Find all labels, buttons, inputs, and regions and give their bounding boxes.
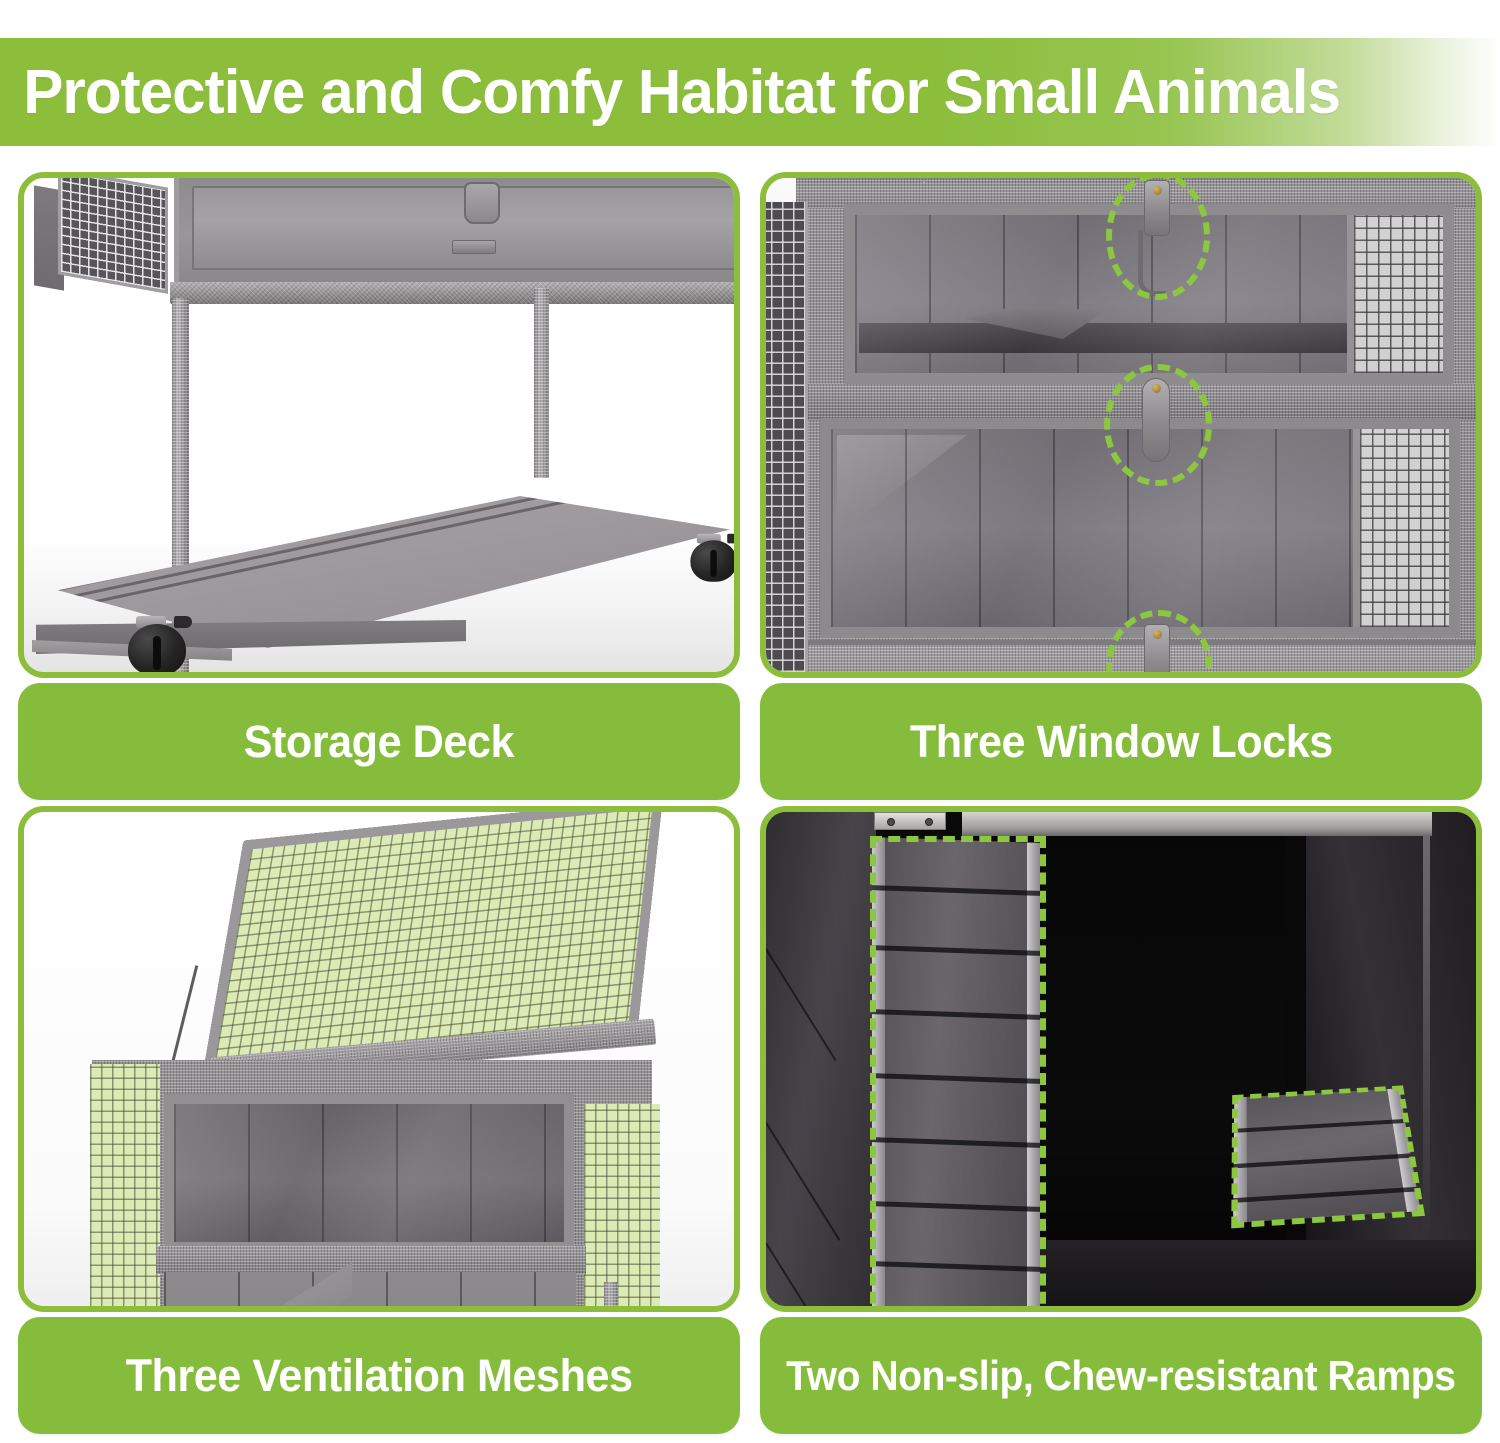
stand-leg (534, 288, 549, 478)
caption-storage-deck: Storage Deck (18, 683, 740, 800)
hinged-door (192, 186, 734, 270)
door-handle-icon (464, 182, 500, 224)
hutch-base-rail (170, 282, 734, 304)
caption-label: Two Non-slip, Chew-resistant Ramps (786, 1352, 1455, 1400)
feature-card-ramps: Two Non-slip, Chew-resistant Ramps (760, 806, 1482, 1434)
deck-slat (30, 468, 715, 616)
caption-label: Three Window Locks (909, 716, 1332, 768)
caster-wheel-icon (690, 532, 734, 582)
door-edge (1423, 826, 1430, 1266)
upper-compartment (164, 1094, 574, 1252)
feature-card-ventilation-meshes: Three Ventilation Meshes (18, 806, 740, 1434)
ventilation-mesh-right-side (584, 1104, 660, 1306)
lower-compartment (164, 1272, 576, 1306)
top-frame-bar (962, 812, 1432, 836)
ventilation-mesh-left-side (90, 1064, 160, 1306)
caption-window-locks: Three Window Locks (760, 683, 1482, 800)
deck-slat (44, 455, 729, 603)
wire-mesh-icon (766, 202, 808, 672)
open-door-panel (1306, 812, 1476, 1306)
hinge-icon (452, 240, 496, 254)
highlight-rect-ramp-1 (870, 836, 1046, 1306)
stand-leg (604, 1282, 618, 1306)
feature-card-window-locks: Three Window Locks (760, 172, 1482, 800)
product-photo-ramps (760, 806, 1482, 1312)
highlight-rect-ramp-2 (1231, 1085, 1425, 1228)
feature-card-storage-deck: Storage Deck (18, 172, 740, 800)
caption-ramps: Two Non-slip, Chew-resistant Ramps (760, 1317, 1482, 1434)
hinge-plate-icon (874, 812, 946, 830)
product-photo-window-locks (760, 172, 1482, 678)
product-photo-ventilation-meshes (18, 806, 740, 1312)
header-banner: Protective and Comfy Habitat for Small A… (0, 38, 1500, 146)
page-title: Protective and Comfy Habitat for Small A… (0, 57, 1340, 128)
highlight-circle-lock-2 (1104, 364, 1212, 486)
feature-grid: Storage Deck (18, 172, 1482, 1434)
product-photo-storage-deck (18, 172, 740, 678)
caption-ventilation-meshes: Three Ventilation Meshes (18, 1317, 740, 1434)
wire-mesh-icon (58, 178, 168, 294)
highlight-circle-lock-1 (1106, 178, 1210, 300)
caption-label: Storage Deck (244, 716, 514, 768)
caster-wheel-icon (128, 614, 192, 672)
infographic-page: Protective and Comfy Habitat for Small A… (0, 0, 1500, 1443)
middle-rail (156, 1246, 586, 1274)
interior-left-wall (766, 812, 876, 1306)
caption-label: Three Ventilation Meshes (125, 1350, 632, 1402)
